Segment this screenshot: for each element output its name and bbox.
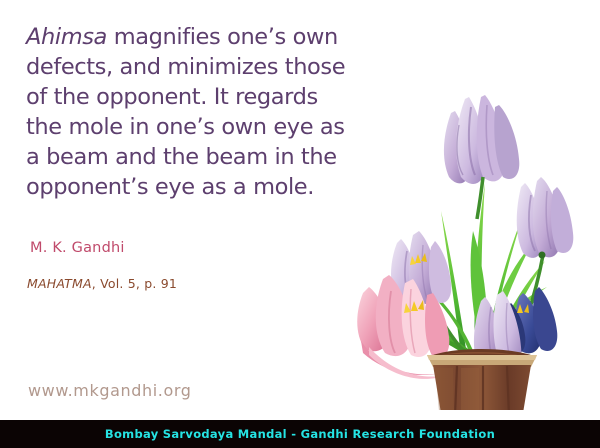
quote-line-2: defects, and minimizes those bbox=[26, 52, 386, 82]
source-reference: , Vol. 5, p. 91 bbox=[92, 276, 177, 291]
crocus-flowers-illustration bbox=[355, 55, 600, 410]
source-title: MAHATMA bbox=[27, 276, 92, 291]
website-url[interactable]: www.mkgandhi.org bbox=[28, 381, 192, 400]
flower-pot bbox=[427, 355, 537, 410]
crocus-top-lavender bbox=[444, 95, 519, 219]
source-citation: MAHATMA, Vol. 5, p. 91 bbox=[27, 276, 177, 291]
quote-line-5: a beam and the beam in the bbox=[26, 142, 386, 172]
footer-bar: Bombay Sarvodaya Mandal - Gandhi Researc… bbox=[0, 420, 600, 448]
quote-line-1: Ahimsa magnifies one’s own bbox=[26, 22, 386, 52]
quote-line-6: opponent’s eye as a mole. bbox=[26, 172, 386, 202]
quote-line-3: of the opponent. It regards bbox=[26, 82, 386, 112]
quote-poster: Ahimsa magnifies one’s own defects, and … bbox=[0, 0, 600, 448]
quote-line-4: the mole in one’s own eye as bbox=[26, 112, 386, 142]
footer-organization-text: Bombay Sarvodaya Mandal - Gandhi Researc… bbox=[105, 427, 495, 441]
emphasis-term: Ahimsa bbox=[26, 24, 107, 50]
quote-line-1-rest: magnifies one’s own bbox=[107, 24, 338, 50]
quote-text-block: Ahimsa magnifies one’s own defects, and … bbox=[26, 22, 386, 202]
author-name: M. K. Gandhi bbox=[30, 240, 125, 256]
